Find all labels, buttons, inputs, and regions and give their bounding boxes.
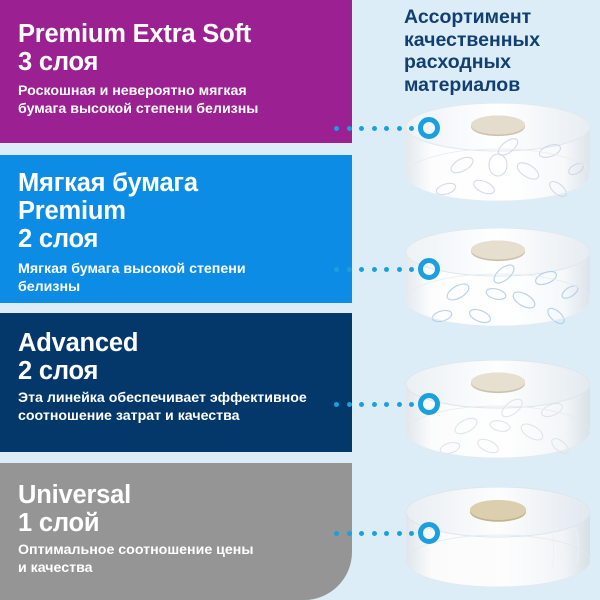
dotted-leader-icon	[334, 267, 414, 272]
dotted-leader-icon	[334, 126, 414, 131]
tier-panel-advanced[interactable]: Advanced 2 слоя Эта линейка обеспечивает…	[0, 313, 352, 452]
tier-description-premium-extra-soft: Роскошная и невероятно мягкая бумага выс…	[18, 82, 334, 118]
tier-panel-myagkaya-bumaga-premium[interactable]: Мягкая бумага Premium 2 слоя Мягкая бума…	[0, 155, 352, 303]
ring-marker-icon	[418, 117, 440, 139]
tier-panel-premium-extra-soft[interactable]: Premium Extra Soft 3 слоя Роскошная и не…	[0, 0, 352, 143]
tier-panel-universal[interactable]: Universal 1 слой Оптимальное соотношение…	[0, 463, 352, 600]
ring-marker-icon	[418, 393, 440, 415]
tier-title-myagkaya-bumaga-premium: Мягкая бумага Premium 2 слоя	[18, 169, 334, 253]
ring-marker-icon	[418, 522, 440, 544]
tier-title-advanced: Advanced 2 слоя	[18, 329, 334, 385]
tier-title-universal: Universal 1 слой	[18, 481, 334, 537]
product-range-infographic: Premium Extra Soft 3 слоя Роскошная и не…	[0, 0, 600, 600]
connector-premium-extra-soft	[334, 117, 440, 139]
connector-universal	[334, 522, 440, 544]
connector-advanced	[334, 393, 440, 415]
tier-description-universal: Оптимальное соотношение цены и качества	[18, 541, 334, 577]
ring-marker-icon	[418, 258, 440, 280]
tier-description-advanced: Эта линейка обеспечивает эффективное соо…	[18, 389, 334, 425]
headline: Ассортимент качественных расходных матер…	[404, 6, 600, 96]
tier-description-myagkaya-bumaga-premium: Мягкая бумага высокой степени белизны	[18, 260, 334, 296]
dotted-leader-icon	[334, 402, 414, 407]
dotted-leader-icon	[334, 531, 414, 536]
connector-myagkaya-bumaga-premium	[334, 258, 440, 280]
tier-title-premium-extra-soft: Premium Extra Soft 3 слоя	[18, 20, 334, 76]
